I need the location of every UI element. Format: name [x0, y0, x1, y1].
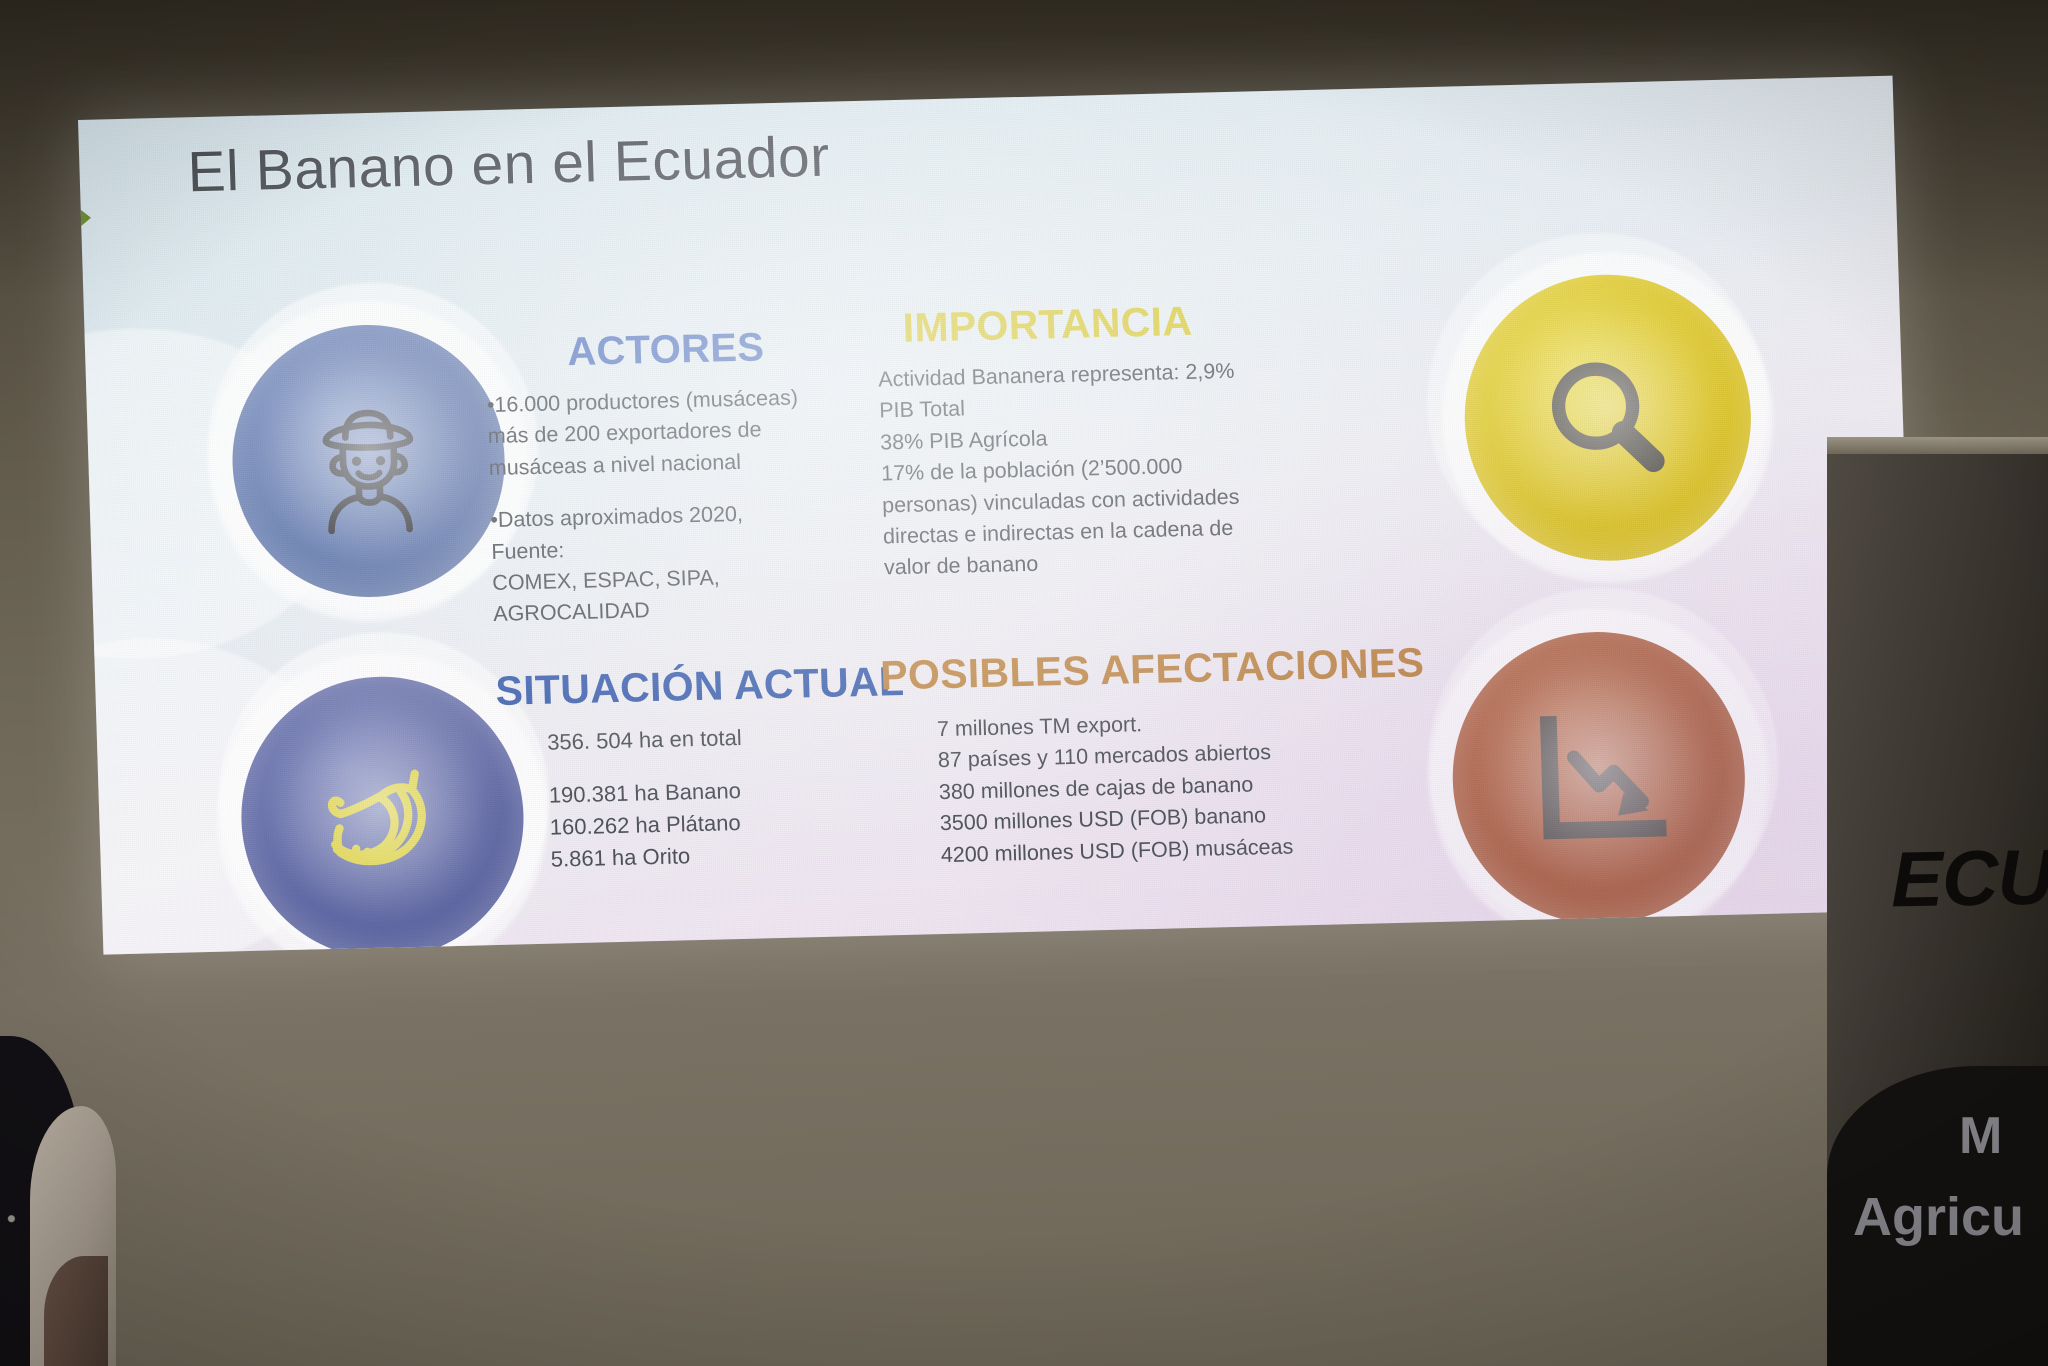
banner-brand-text: ECU	[1890, 832, 2048, 926]
heading-actores: ACTORES	[567, 325, 765, 375]
page-title: El Banano en el Ecuador	[187, 124, 831, 206]
chevron-right-icon	[78, 160, 159, 275]
slide-canvas: El Banano en el Ecuador	[78, 76, 1918, 955]
farmer-icon	[291, 384, 446, 538]
declining-chart-icon	[1521, 700, 1678, 856]
body-actores: •16.000 productores (musáceas) más de 20…	[486, 382, 823, 631]
text-line: •Datos aproximados 2020, Fuente:	[490, 497, 822, 568]
rollup-banner: ECU M Agricu	[1827, 437, 2048, 1366]
heading-posibles-afectaciones: POSIBLES AFECTACIONES	[880, 639, 1425, 699]
heading-importancia: IMPORTANCIA	[902, 298, 1193, 352]
person-shirt-logo	[0, 1204, 38, 1246]
text-line: 5.861 ha Orito	[550, 836, 881, 876]
banner-rail	[1827, 437, 2048, 454]
body-importancia: Actividad Bananera representa: 2,9% PIB …	[878, 356, 1245, 584]
projected-slide: El Banano en el Ecuador	[78, 76, 1918, 955]
body-posibles-afectaciones: 7 millones TM export. 87 países y 110 me…	[937, 705, 1322, 871]
banner-line-m: M	[1959, 1106, 2002, 1166]
text-line: AGROCALIDAD	[493, 591, 824, 630]
bananas-icon	[300, 736, 465, 900]
text-line: 356. 504 ha en total	[547, 719, 878, 759]
heading-situacion-actual: SITUACIÓN ACTUAL	[495, 658, 905, 715]
banner-line-agricu: Agricu	[1853, 1186, 2024, 1248]
photo-scene: El Banano en el Ecuador	[0, 0, 2048, 1366]
magnifier-icon	[1532, 342, 1684, 494]
foreground-person	[0, 1036, 140, 1366]
body-situacion-actual: 356. 504 ha en total 190.381 ha Banano 1…	[547, 719, 881, 876]
